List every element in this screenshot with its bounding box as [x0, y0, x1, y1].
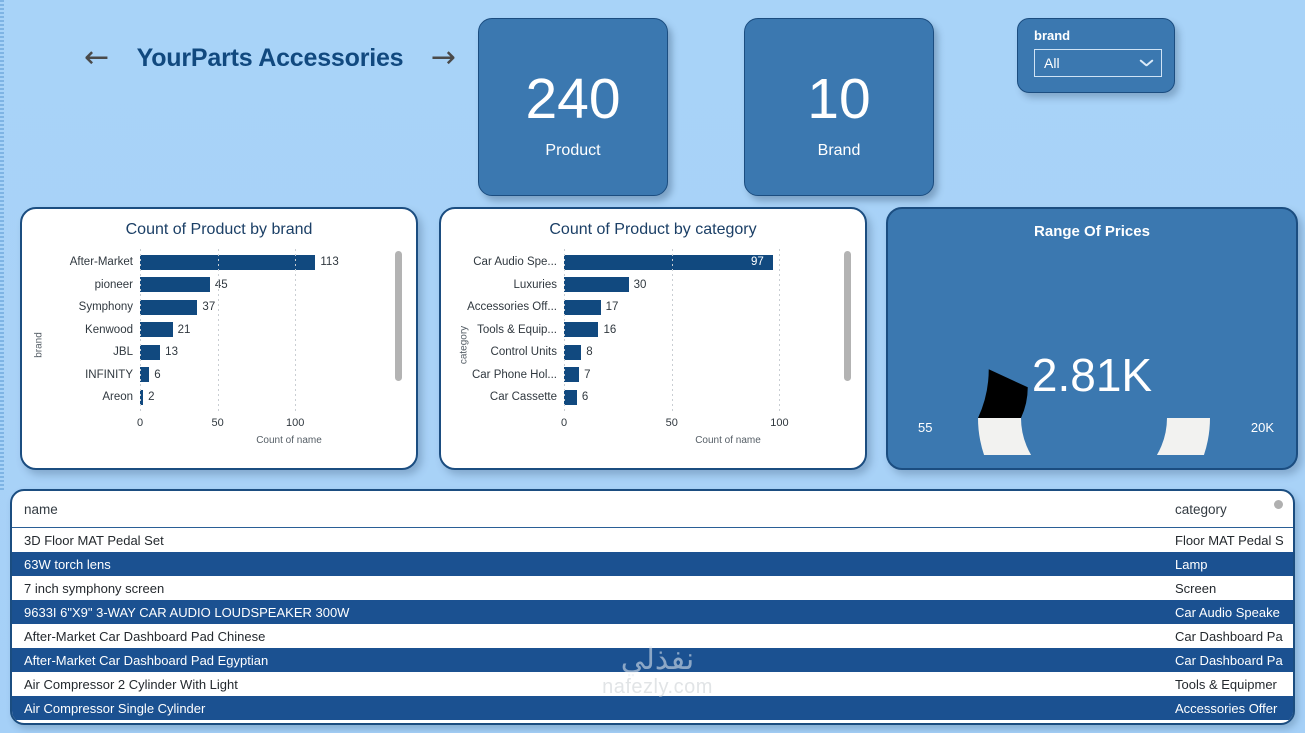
bar-category-label: Luxuries — [459, 279, 564, 291]
x-axis-tick: 100 — [286, 417, 304, 429]
table-row[interactable]: Air Compressor 2 Cylinder With LightTool… — [12, 672, 1293, 696]
gauge-value-text: 2.81K — [888, 348, 1296, 402]
table-cell-name: After-Market Car Dashboard Pad Egyptian — [12, 653, 1165, 668]
bar[interactable] — [140, 300, 197, 315]
bar-row[interactable]: Car Cassette6 — [459, 386, 861, 409]
bar-category-label: Car Phone Hol... — [459, 369, 564, 381]
page-header: ← YourParts Accessories → — [80, 34, 460, 82]
table-cell-category: Car Audio Speake — [1165, 605, 1293, 620]
table-cell-category: Car Dashboard Pa — [1165, 629, 1293, 644]
x-axis-tick: 50 — [666, 417, 678, 429]
canvas-left-rail — [0, 0, 4, 490]
table-row[interactable]: Air Compressor Single CylinderAccessorie… — [12, 696, 1293, 720]
chart-vertical-scrollbar[interactable] — [395, 251, 402, 381]
chart-plot-category: category Car Audio Spe...97Luxuries30Acc… — [441, 247, 865, 443]
bar-value-label: 13 — [165, 346, 178, 358]
bar-track: 37 — [140, 296, 394, 319]
bar-category-label: Tools & Equip... — [459, 324, 564, 336]
bar-value-label: 37 — [202, 301, 215, 313]
bar-value-label: 30 — [634, 279, 647, 291]
bar[interactable] — [564, 322, 598, 337]
bar-category-label: After-Market — [40, 256, 140, 268]
forward-arrow-icon[interactable]: → — [427, 43, 460, 73]
table-header-row: name category — [12, 491, 1293, 528]
bar-category-label: INFINITY — [40, 369, 140, 381]
brand-slicer-label: brand — [1034, 28, 1162, 43]
kpi-value-product: 240 — [525, 71, 620, 128]
gauge-track-arc — [978, 418, 1210, 455]
kpi-label-brand: Brand — [818, 142, 861, 160]
bar-category-label: Car Cassette — [459, 391, 564, 403]
bar-value-label: 7 — [584, 369, 590, 381]
chart-plot-brand: brand After-Market113pioneer45Symphony37… — [22, 247, 416, 443]
table-body: 3D Floor MAT Pedal SetFloor MAT Pedal S6… — [12, 528, 1293, 720]
bar-value-label: 6 — [154, 369, 160, 381]
bar-track: 13 — [140, 341, 394, 364]
x-axis-tick: 100 — [770, 417, 788, 429]
bar-category-label: Kenwood — [40, 324, 140, 336]
bar[interactable] — [564, 367, 579, 382]
bar-row[interactable]: Car Phone Hol...7 — [459, 364, 861, 387]
gauge-min-label: 55 — [918, 420, 932, 435]
bar-track: 97 — [564, 251, 861, 274]
gauge-plot: 2.81K 55 20K — [888, 240, 1296, 455]
bar-row[interactable]: Car Audio Spe...97 — [459, 251, 861, 274]
table-cell-category: Screen — [1165, 581, 1293, 596]
bar[interactable] — [140, 277, 210, 292]
table-row[interactable]: 7 inch symphony screenScreen — [12, 576, 1293, 600]
gridline — [779, 249, 780, 411]
table-cell-name: 63W torch lens — [12, 557, 1165, 572]
bar-category-label: Control Units — [459, 346, 564, 358]
bar-row[interactable]: Luxuries30 — [459, 274, 861, 297]
bar-category-label: Areon — [40, 391, 140, 403]
chart-count-of-product-by-category[interactable]: Count of Product by category category Ca… — [439, 207, 867, 470]
kpi-card-brand[interactable]: 10 Brand — [744, 18, 934, 196]
table-cell-category: Accessories Offer — [1165, 701, 1293, 716]
bar-track: 30 — [564, 274, 861, 297]
gridline — [295, 249, 296, 411]
bar[interactable] — [564, 277, 629, 292]
brand-slicer-dropdown[interactable]: All — [1034, 49, 1162, 77]
table-cell-category: Floor MAT Pedal S — [1165, 533, 1293, 548]
gridline — [140, 249, 141, 411]
bar[interactable] — [564, 300, 601, 315]
table-cell-name: 3D Floor MAT Pedal Set — [12, 533, 1165, 548]
bar-track: 7 — [564, 364, 861, 387]
kpi-value-brand: 10 — [807, 71, 870, 128]
x-axis-title: Count of name — [441, 435, 867, 446]
bar-track: 6 — [140, 364, 394, 387]
bar-track: 6 — [564, 386, 861, 409]
bar-value-label: 8 — [586, 346, 592, 358]
x-axis: 050100Count of name — [22, 417, 416, 447]
table-row[interactable]: 3D Floor MAT Pedal SetFloor MAT Pedal S — [12, 528, 1293, 552]
gridline — [218, 249, 219, 411]
table-cell-name: Air Compressor 2 Cylinder With Light — [12, 677, 1165, 692]
bar-track: 21 — [140, 319, 394, 342]
bar-group: Car Audio Spe...97Luxuries30Accessories … — [459, 251, 861, 409]
bar[interactable] — [564, 255, 773, 270]
x-axis-tick: 0 — [137, 417, 143, 429]
bar-category-label: JBL — [40, 346, 140, 358]
table-vertical-scrollbar-thumb[interactable] — [1274, 500, 1283, 509]
bar-track: 16 — [564, 319, 861, 342]
report-canvas: ← YourParts Accessories → 240 Product 10… — [0, 0, 1305, 733]
bar-category-label: Accessories Off... — [459, 301, 564, 313]
bar-track: 17 — [564, 296, 861, 319]
brand-slicer-value: All — [1044, 55, 1060, 71]
bar-value-label: 6 — [582, 391, 588, 403]
table-cell-category: Car Dashboard Pa — [1165, 653, 1293, 668]
chart-vertical-scrollbar[interactable] — [844, 251, 851, 381]
x-axis-title: Count of name — [22, 435, 418, 446]
bar-track: 113 — [140, 251, 394, 274]
table-cell-name: After-Market Car Dashboard Pad Chinese — [12, 629, 1165, 644]
bar[interactable] — [140, 322, 173, 337]
bar-value-label: 21 — [178, 324, 191, 336]
chart-count-of-product-by-brand[interactable]: Count of Product by brand brand After-Ma… — [20, 207, 418, 470]
bar-track: 8 — [564, 341, 861, 364]
bar[interactable] — [564, 345, 581, 360]
x-axis-tick: 0 — [561, 417, 567, 429]
table-cell-name: Air Compressor Single Cylinder — [12, 701, 1165, 716]
chevron-down-icon[interactable] — [1140, 59, 1153, 67]
bar-category-label: pioneer — [40, 279, 140, 291]
bar-value-label: 2 — [148, 391, 154, 403]
gauge-max-label: 20K — [1251, 420, 1274, 435]
table-row[interactable]: After-Market Car Dashboard Pad EgyptianC… — [12, 648, 1293, 672]
products-table[interactable]: name category 3D Floor MAT Pedal SetFloo… — [10, 489, 1295, 725]
bar[interactable] — [140, 255, 315, 270]
chart-title-category: Count of Product by category — [441, 209, 865, 239]
bar-category-label: Symphony — [40, 301, 140, 313]
back-arrow-icon[interactable]: ← — [80, 43, 113, 73]
gridline — [672, 249, 673, 411]
table-cell-name: 7 inch symphony screen — [12, 581, 1165, 596]
bar-value-label: 16 — [603, 324, 616, 336]
brand-slicer[interactable]: brand All — [1017, 18, 1175, 93]
bar-category-label: Car Audio Spe... — [459, 256, 564, 268]
x-axis: 050100Count of name — [441, 417, 865, 447]
table-row[interactable]: After-Market Car Dashboard Pad ChineseCa… — [12, 624, 1293, 648]
bar-value-label: 97 — [751, 256, 764, 268]
bar[interactable] — [564, 390, 577, 405]
gauge-range-of-prices[interactable]: Range Of Prices 2.81K 55 20K — [886, 207, 1298, 470]
x-axis-tick: 50 — [211, 417, 223, 429]
column-header-name[interactable]: name — [12, 502, 1165, 517]
gauge-title: Range Of Prices — [888, 209, 1296, 240]
table-row[interactable]: 9633I 6"X9" 3-WAY CAR AUDIO LOUDSPEAKER … — [12, 600, 1293, 624]
chart-title-brand: Count of Product by brand — [22, 209, 416, 239]
bar-row[interactable]: Accessories Off...17 — [459, 296, 861, 319]
bar-row[interactable]: Control Units8 — [459, 341, 861, 364]
bar-row[interactable]: Tools & Equip...16 — [459, 319, 861, 342]
bar-track: 45 — [140, 274, 394, 297]
kpi-label-product: Product — [545, 142, 600, 160]
table-cell-category: Tools & Equipmer — [1165, 677, 1293, 692]
bar-value-label: 17 — [606, 301, 619, 313]
table-cell-category: Lamp — [1165, 557, 1293, 572]
bar[interactable] — [140, 367, 149, 382]
table-cell-name: 9633I 6"X9" 3-WAY CAR AUDIO LOUDSPEAKER … — [12, 605, 1165, 620]
table-row[interactable]: 63W torch lensLamp — [12, 552, 1293, 576]
page-title: YourParts Accessories — [137, 44, 404, 73]
bar[interactable] — [140, 345, 160, 360]
kpi-card-product[interactable]: 240 Product — [478, 18, 668, 196]
bar-value-label: 113 — [320, 256, 338, 268]
bar-track: 2 — [140, 386, 394, 409]
gridline — [564, 249, 565, 411]
